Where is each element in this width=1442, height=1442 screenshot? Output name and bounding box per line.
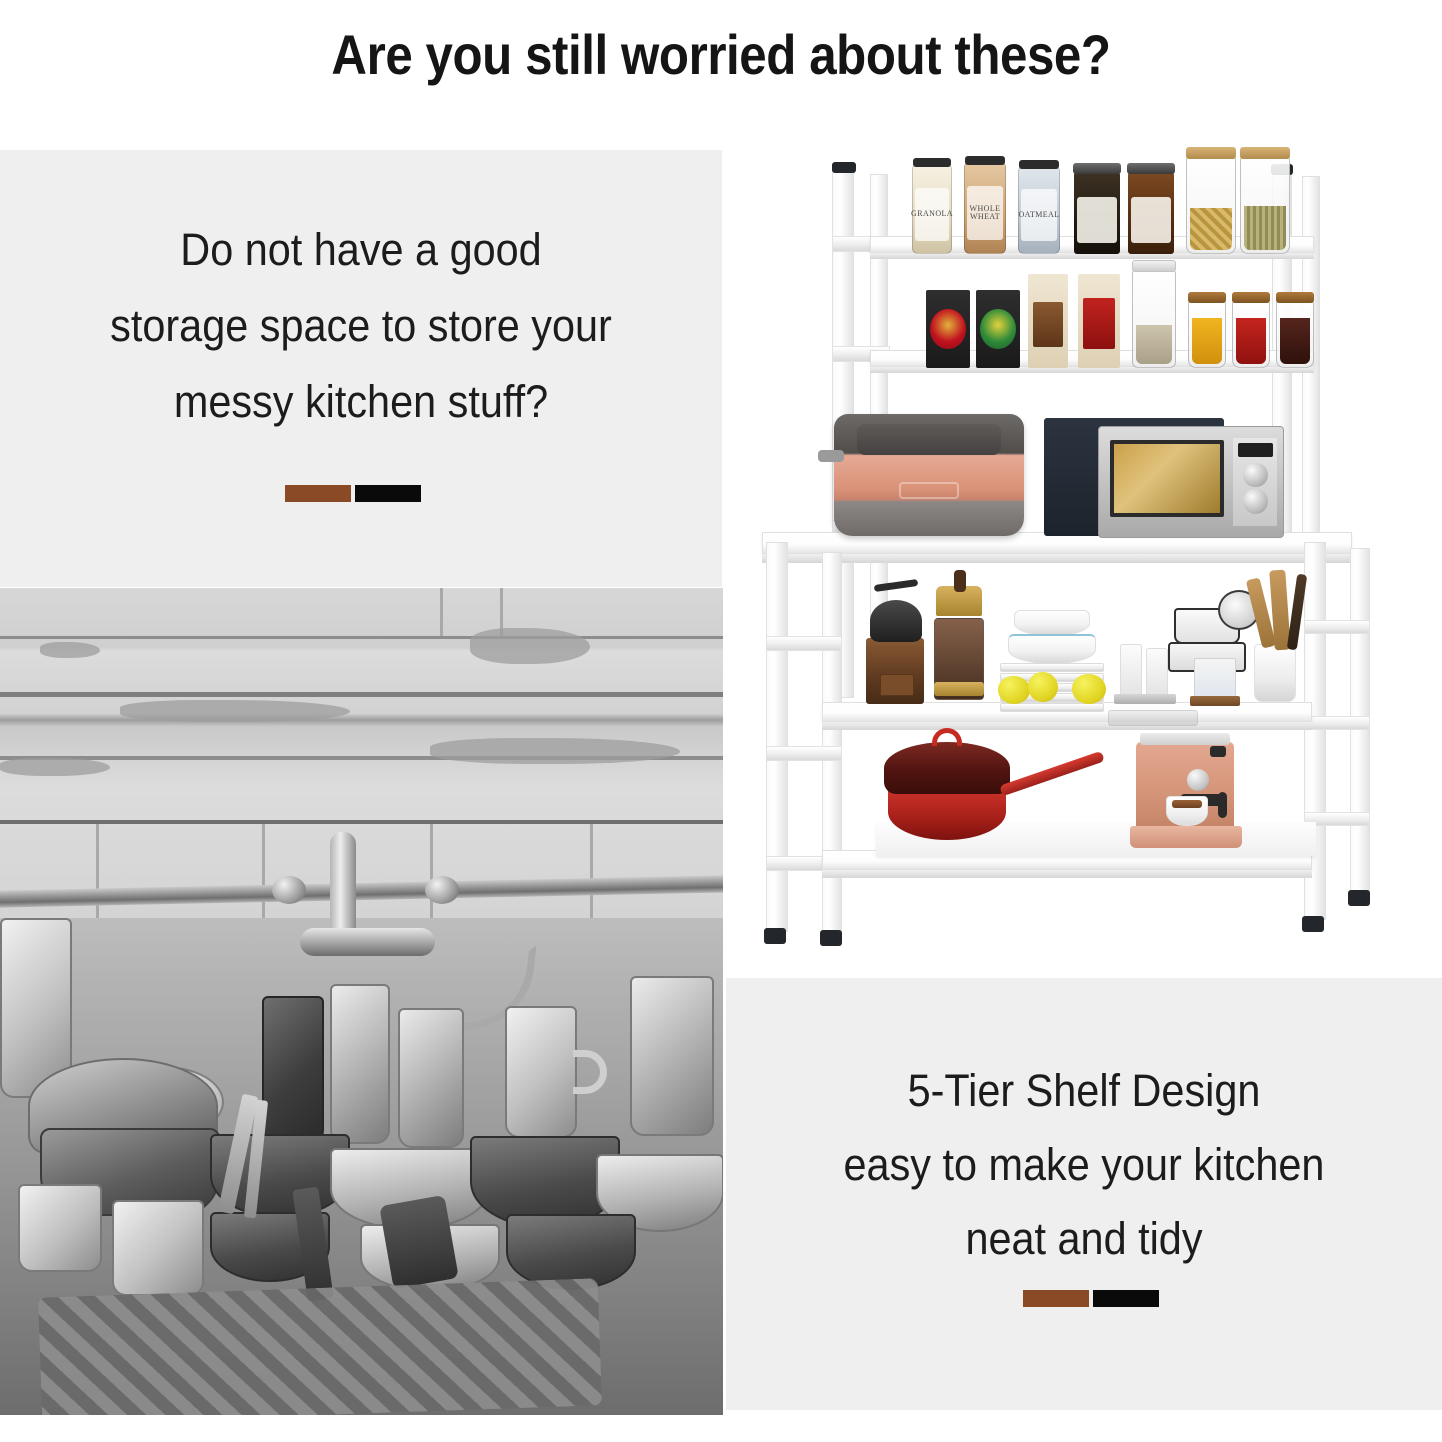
box-label-cocoa: [1033, 302, 1063, 347]
problem-text-block: Do not have a good storage space to stor…: [0, 212, 722, 440]
lemon-2: [1028, 672, 1058, 702]
glass-jar-grains: [1240, 156, 1290, 254]
jam-contents-yellow: [1192, 318, 1222, 364]
jam-jar-lid: [1276, 292, 1314, 303]
frame-rung-ll-1: [766, 636, 842, 651]
dirty-mug-white: [505, 1006, 577, 1138]
page-title: Are you still worried about these?: [87, 22, 1356, 87]
problem-text-panel: Do not have a good storage space to stor…: [0, 150, 722, 587]
coffee-grinder-dome: [870, 600, 922, 642]
jar-contents-pasta: [1190, 208, 1232, 250]
canister-granola: GRANOLA: [912, 164, 952, 254]
shelf-edge-tier-5: [822, 870, 1312, 878]
foot-lower-left-front: [820, 930, 842, 946]
frying-pan-lid: [884, 742, 1010, 794]
jar-contents-grains: [1244, 206, 1286, 250]
utensil-crock: [1254, 644, 1296, 702]
shelf-product-photo: GRANOLA WHOLEWHEAT OATMEAL: [726, 150, 1442, 970]
divider-segment-brown: [285, 485, 351, 502]
dispenser-tray: [1114, 694, 1176, 704]
divider-segment-black: [355, 485, 421, 502]
frame-rung-ll-2: [766, 746, 842, 761]
wire-rack: [1108, 710, 1198, 726]
jar-mint-sauce: [976, 290, 1020, 368]
espresso-drip-tray: [1130, 826, 1242, 848]
foot-lower-left-back: [764, 928, 786, 944]
box-cocoa: [1028, 274, 1068, 368]
banner-canvas: Are you still worried about these? Do no…: [0, 0, 1442, 1442]
bowl-stack-mid: [1008, 634, 1096, 664]
solution-line-3: neat and tidy: [755, 1202, 1414, 1276]
faucet-arm: [300, 928, 435, 956]
lemon-3: [1072, 674, 1106, 704]
faucet-knob-left: [272, 876, 306, 904]
box-label-spice: [1083, 298, 1115, 349]
shelf-edge-worktop: [762, 554, 1352, 563]
plate: [1000, 703, 1104, 712]
espresso-pressure-gauge: [1187, 769, 1209, 791]
canister-whole-wheat: WHOLEWHEAT: [964, 162, 1006, 254]
microwave-control-panel: [1233, 438, 1277, 526]
canister-label-granola: GRANOLA: [915, 188, 948, 241]
dirty-glass-3: [630, 976, 714, 1136]
problem-line-1: Do not have a good: [29, 212, 693, 288]
jam-jar-red: [1232, 300, 1270, 368]
jar-lid: [1127, 163, 1175, 174]
foot-lower-right-front: [1348, 890, 1370, 906]
divider-segment-brown: [1023, 1290, 1089, 1307]
clasp-jar-lid: [1132, 260, 1176, 272]
espresso-top-plate: [1140, 733, 1230, 745]
canister-wood-base: [1190, 696, 1240, 706]
microwave-oven: [1098, 426, 1284, 538]
kitchen-towel: [38, 1278, 602, 1415]
sauce-label-mint: [980, 309, 1016, 350]
grinder-drawer: [880, 674, 914, 696]
jar-lid: [1073, 163, 1121, 174]
jam-jar-lid: [1232, 292, 1270, 303]
jar-label: [1131, 197, 1172, 243]
espresso-switch[interactable]: [1210, 746, 1226, 757]
jar-ribs-chicken-sauce: [926, 290, 970, 368]
jam-jar-yellow: [1188, 300, 1226, 368]
lemon-1: [998, 676, 1030, 704]
frame-rung-lr-2: [1304, 716, 1370, 730]
frame-cap-upper-left: [832, 162, 856, 173]
microwave-display: [1238, 443, 1273, 457]
dirty-cup-tipped-2: [112, 1200, 204, 1296]
dirty-glass-1: [330, 984, 390, 1144]
jar-wood-lid: [1186, 147, 1236, 159]
messy-sink-photo: [0, 588, 723, 1415]
dirty-glass-2: [398, 1008, 464, 1148]
faucet-knob-right: [425, 876, 459, 904]
canister-lid: [965, 156, 1005, 165]
jam-jar-dark: [1276, 300, 1314, 368]
jam-contents-red: [1236, 318, 1266, 364]
microwave-dial-lower[interactable]: [1243, 489, 1268, 514]
plate: [1000, 663, 1104, 672]
tiled-wall: [0, 588, 723, 918]
bowl-stack-top: [1014, 610, 1090, 636]
canister-lid: [913, 158, 951, 167]
frame-rung-lr-1: [1304, 620, 1370, 634]
french-press-base: [934, 682, 984, 696]
scouring-pad: [379, 1195, 459, 1289]
solution-line-1: 5-Tier Shelf Design: [755, 1054, 1414, 1128]
soap-dispenser-1: [1120, 644, 1142, 698]
rice-cooker-handle: [818, 450, 844, 462]
clasp-jar-grain: [1132, 268, 1176, 368]
divider-rule-right: [1023, 1290, 1159, 1307]
clasp-jar-contents: [1136, 325, 1172, 364]
jar-amber-preserve: [1128, 172, 1174, 254]
jam-jar-lid: [1188, 292, 1226, 303]
jar-label: [1077, 197, 1118, 243]
divider-rule-left: [285, 485, 421, 502]
foot-lower-right-back: [1302, 916, 1324, 932]
frame-post-lower-left-back: [766, 542, 788, 932]
solution-text-block: 5-Tier Shelf Design easy to make your ki…: [726, 1054, 1442, 1276]
frying-pan-lid-knob: [932, 728, 962, 746]
sauce-label-ribs: [930, 309, 966, 350]
glass-jar-pasta: [1186, 156, 1236, 254]
box-spice: [1078, 274, 1120, 368]
jar-wood-lid: [1240, 147, 1290, 159]
microwave-dial-upper[interactable]: [1243, 463, 1268, 488]
jar-dark-preserve: [1074, 172, 1120, 254]
dirty-mug-dark: [262, 996, 324, 1144]
canister-lid: [1019, 160, 1059, 169]
microwave-door-window: [1110, 440, 1224, 517]
espresso-steam-wand: [1218, 792, 1227, 818]
ceramic-canister: [1194, 658, 1236, 700]
canister-label-wheat: WHOLEWHEAT: [967, 186, 1002, 240]
canister-oatmeal: OATMEAL: [1018, 166, 1060, 254]
soap-dispenser-2: [1146, 648, 1168, 698]
shelf-edge-tier-4: [822, 722, 1312, 730]
espresso-coffee-surface: [1172, 800, 1202, 808]
solution-line-2: easy to make your kitchen: [755, 1128, 1414, 1202]
canister-label-oatmeal: OATMEAL: [1021, 189, 1056, 241]
hand-grinder-knob: [954, 570, 966, 592]
problem-line-2: storage space to store your: [29, 288, 693, 364]
dirty-cup-tipped: [18, 1184, 102, 1272]
rice-cooker-lid-panel: [857, 424, 1001, 456]
rice-cooker-badge: [899, 482, 960, 499]
solution-text-panel: 5-Tier Shelf Design easy to make your ki…: [726, 978, 1442, 1410]
frying-pan-handle: [999, 751, 1105, 797]
problem-line-3: messy kitchen stuff?: [29, 364, 693, 440]
divider-segment-black: [1093, 1290, 1159, 1307]
jam-contents-dark: [1280, 318, 1310, 364]
rice-cooker: [834, 414, 1024, 536]
